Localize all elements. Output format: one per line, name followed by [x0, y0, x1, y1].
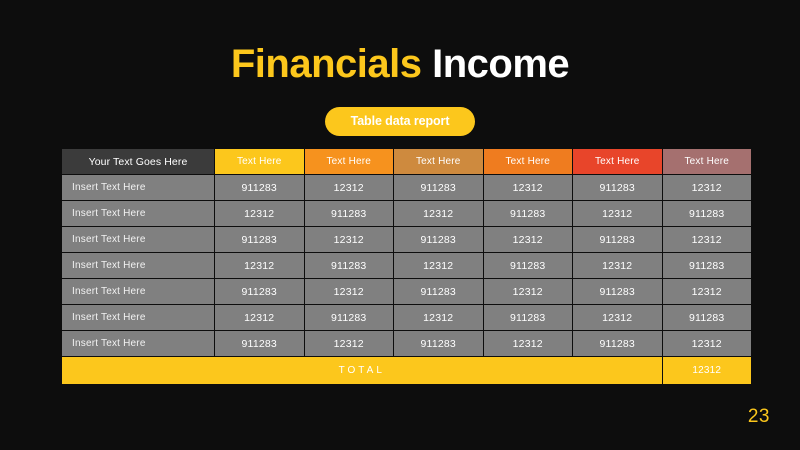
financial-data-table: Your Text Goes Here Text Here Text Here …	[61, 148, 752, 385]
data-table-container: Your Text Goes Here Text Here Text Here …	[61, 148, 745, 385]
row-value: 911283	[215, 331, 304, 356]
row-value: 911283	[484, 305, 573, 330]
row-label: Insert Text Here	[62, 201, 214, 226]
table-row: Insert Text Here 911283 12312 911283 123…	[62, 227, 751, 252]
table-head: Your Text Goes Here Text Here Text Here …	[62, 149, 751, 174]
row-value: 12312	[484, 227, 573, 252]
row-value: 911283	[215, 279, 304, 304]
header-cell-2: Text Here	[305, 149, 394, 174]
title-block: Financials Income	[0, 42, 800, 86]
row-value: 12312	[484, 331, 573, 356]
row-label: Insert Text Here	[62, 253, 214, 278]
row-value: 12312	[394, 253, 483, 278]
row-value: 12312	[305, 331, 394, 356]
row-value: 911283	[573, 227, 662, 252]
row-value: 911283	[305, 253, 394, 278]
table-row: Insert Text Here 12312 911283 12312 9112…	[62, 201, 751, 226]
table-row: Insert Text Here 911283 12312 911283 123…	[62, 331, 751, 356]
row-value: 911283	[573, 279, 662, 304]
slide-canvas: Financials Income Table data report Your…	[0, 0, 800, 450]
table-row: Insert Text Here 12312 911283 12312 9112…	[62, 253, 751, 278]
row-value: 12312	[573, 201, 662, 226]
row-value: 12312	[215, 305, 304, 330]
total-value: 12312	[663, 357, 752, 384]
page-title-plain: Income	[432, 42, 569, 86]
row-value: 12312	[305, 279, 394, 304]
row-label: Insert Text Here	[62, 175, 214, 200]
row-label: Insert Text Here	[62, 227, 214, 252]
header-cell-label: Your Text Goes Here	[62, 149, 214, 174]
row-value: 12312	[305, 175, 394, 200]
row-value: 911283	[484, 253, 573, 278]
row-value: 12312	[663, 279, 752, 304]
row-value: 12312	[573, 253, 662, 278]
row-value: 911283	[215, 227, 304, 252]
page-number: 23	[748, 406, 770, 428]
row-value: 911283	[484, 201, 573, 226]
page-title: Financials Income	[0, 42, 800, 86]
table-body: Insert Text Here 911283 12312 911283 123…	[62, 175, 751, 356]
row-value: 911283	[573, 331, 662, 356]
row-value: 12312	[394, 201, 483, 226]
total-row: TOTAL 12312	[62, 357, 751, 384]
row-value: 911283	[573, 175, 662, 200]
row-value: 12312	[663, 175, 752, 200]
row-value: 12312	[484, 279, 573, 304]
row-label: Insert Text Here	[62, 305, 214, 330]
row-value: 911283	[663, 253, 752, 278]
table-header-row: Your Text Goes Here Text Here Text Here …	[62, 149, 751, 174]
table-row: Insert Text Here 911283 12312 911283 123…	[62, 175, 751, 200]
header-cell-6: Text Here	[663, 149, 752, 174]
row-value: 12312	[573, 305, 662, 330]
row-value: 911283	[663, 305, 752, 330]
table-row: Insert Text Here 12312 911283 12312 9112…	[62, 305, 751, 330]
row-value: 911283	[394, 279, 483, 304]
subtitle-badge: Table data report	[325, 107, 476, 136]
row-value: 911283	[394, 175, 483, 200]
row-value: 911283	[663, 201, 752, 226]
header-cell-5: Text Here	[573, 149, 662, 174]
row-label: Insert Text Here	[62, 331, 214, 356]
table-row: Insert Text Here 911283 12312 911283 123…	[62, 279, 751, 304]
total-label: TOTAL	[62, 357, 662, 384]
row-value: 12312	[484, 175, 573, 200]
table-foot: TOTAL 12312	[62, 357, 751, 384]
row-value: 12312	[305, 227, 394, 252]
row-value: 12312	[394, 305, 483, 330]
row-value: 12312	[215, 253, 304, 278]
row-value: 911283	[305, 305, 394, 330]
badge-row: Table data report	[0, 107, 800, 136]
page-title-accent: Financials	[231, 42, 422, 86]
row-value: 911283	[305, 201, 394, 226]
header-cell-4: Text Here	[484, 149, 573, 174]
row-value: 12312	[663, 331, 752, 356]
header-cell-3: Text Here	[394, 149, 483, 174]
row-label: Insert Text Here	[62, 279, 214, 304]
row-value: 911283	[215, 175, 304, 200]
row-value: 12312	[215, 201, 304, 226]
header-cell-1: Text Here	[215, 149, 304, 174]
row-value: 911283	[394, 227, 483, 252]
row-value: 911283	[394, 331, 483, 356]
row-value: 12312	[663, 227, 752, 252]
